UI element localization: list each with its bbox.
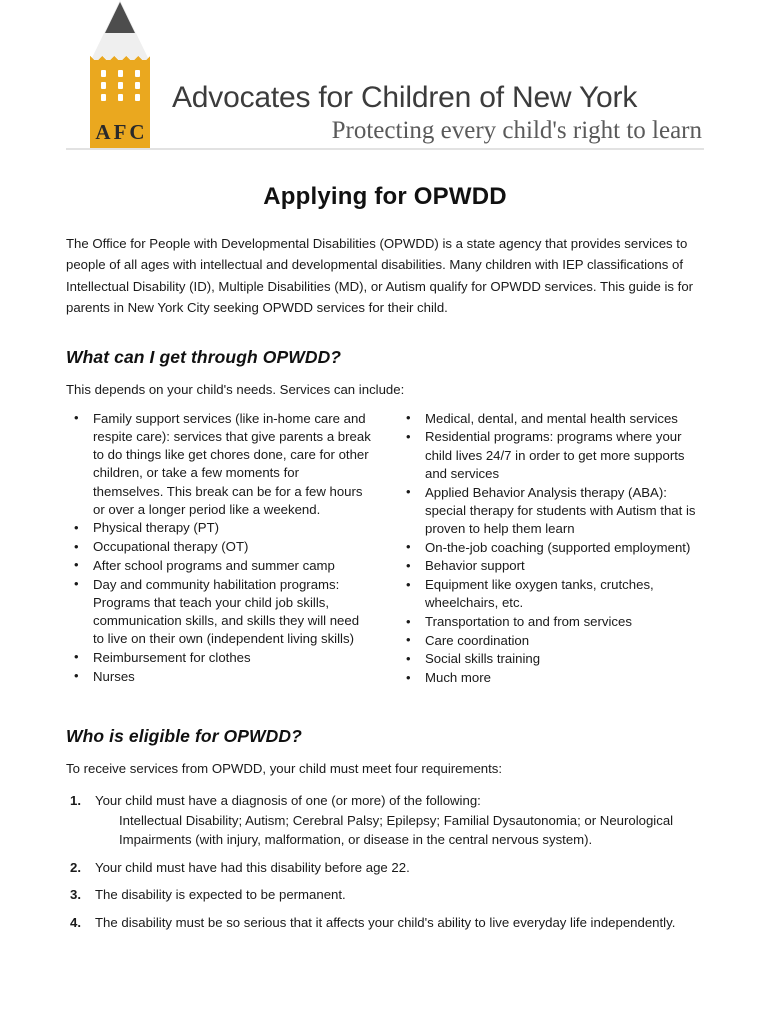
pencil-window-dots-icon: [99, 70, 141, 101]
section-heading-eligibility: Who is eligible for OPWDD?: [66, 726, 704, 747]
list-item: Medical, dental, and mental health servi…: [398, 410, 704, 428]
list-item: Reimbursement for clothes: [66, 649, 372, 667]
masthead-divider: [66, 148, 704, 150]
list-item: After school programs and summer camp: [66, 557, 372, 575]
list-item-text: The disability must be so serious that i…: [95, 915, 675, 930]
eligibility-requirements-list: 1. Your child must have a diagnosis of o…: [66, 791, 704, 932]
list-item-subtext: Intellectual Disability; Autism; Cerebra…: [95, 811, 704, 850]
document-page: AFC Advocates for Children of New York P…: [0, 0, 770, 1024]
list-item: Family support services (like in-home ca…: [66, 410, 372, 519]
document-masthead: AFC Advocates for Children of New York P…: [66, 0, 704, 150]
list-item: Physical therapy (PT): [66, 519, 372, 537]
intro-paragraph: The Office for People with Developmental…: [66, 233, 704, 319]
services-bullet-columns: Family support services (like in-home ca…: [66, 410, 704, 688]
list-item: Social skills training: [398, 650, 704, 668]
organization-logo: AFC Advocates for Children of New York P…: [66, 34, 704, 150]
pencil-logo-icon: AFC: [90, 0, 150, 150]
services-left-list: Family support services (like in-home ca…: [66, 410, 372, 686]
pencil-zigzag-edge-icon: [90, 54, 150, 64]
list-item: Care coordination: [398, 632, 704, 650]
section-heading-services: What can I get through OPWDD?: [66, 347, 704, 368]
list-item: Behavior support: [398, 557, 704, 575]
afc-monogram: AFC: [90, 122, 150, 143]
organization-tagline: Protecting every child's right to learn: [172, 117, 704, 146]
list-item: Residential programs: programs where you…: [398, 428, 704, 483]
list-item: Equipment like oxygen tanks, crutches, w…: [398, 576, 704, 612]
list-item: Much more: [398, 669, 704, 687]
list-item: 2. Your child must have had this disabil…: [66, 858, 704, 878]
list-item: 1. Your child must have a diagnosis of o…: [66, 791, 704, 850]
list-item: Transportation to and from services: [398, 613, 704, 631]
logo-wordmark: Advocates for Children of New York Prote…: [172, 82, 704, 150]
list-item: On-the-job coaching (supported employmen…: [398, 539, 704, 557]
list-item-number: 1.: [70, 791, 81, 811]
services-lead-text: This depends on your child's needs. Serv…: [66, 379, 704, 400]
services-left-column: Family support services (like in-home ca…: [66, 410, 372, 688]
list-item: Day and community habilitation programs:…: [66, 576, 372, 649]
list-item-number: 2.: [70, 858, 81, 878]
eligibility-lead-text: To receive services from OPWDD, your chi…: [66, 758, 704, 779]
list-item-number: 4.: [70, 913, 81, 933]
list-item-text: Your child must have a diagnosis of one …: [95, 793, 481, 808]
list-item: Occupational therapy (OT): [66, 538, 372, 556]
list-item: Nurses: [66, 668, 372, 686]
list-item: Applied Behavior Analysis therapy (ABA):…: [398, 484, 704, 539]
services-right-column: Medical, dental, and mental health servi…: [398, 410, 704, 688]
pencil-graphite-tip-icon: [105, 2, 135, 33]
list-item: 3. The disability is expected to be perm…: [66, 885, 704, 905]
services-right-list: Medical, dental, and mental health servi…: [398, 410, 704, 688]
list-item-text: Your child must have had this disability…: [95, 860, 410, 875]
list-item: 4. The disability must be so serious tha…: [66, 913, 704, 933]
list-item-number: 3.: [70, 885, 81, 905]
organization-name: Advocates for Children of New York: [172, 82, 704, 114]
list-item-text: The disability is expected to be permane…: [95, 887, 346, 902]
page-title: Applying for OPWDD: [66, 183, 704, 211]
